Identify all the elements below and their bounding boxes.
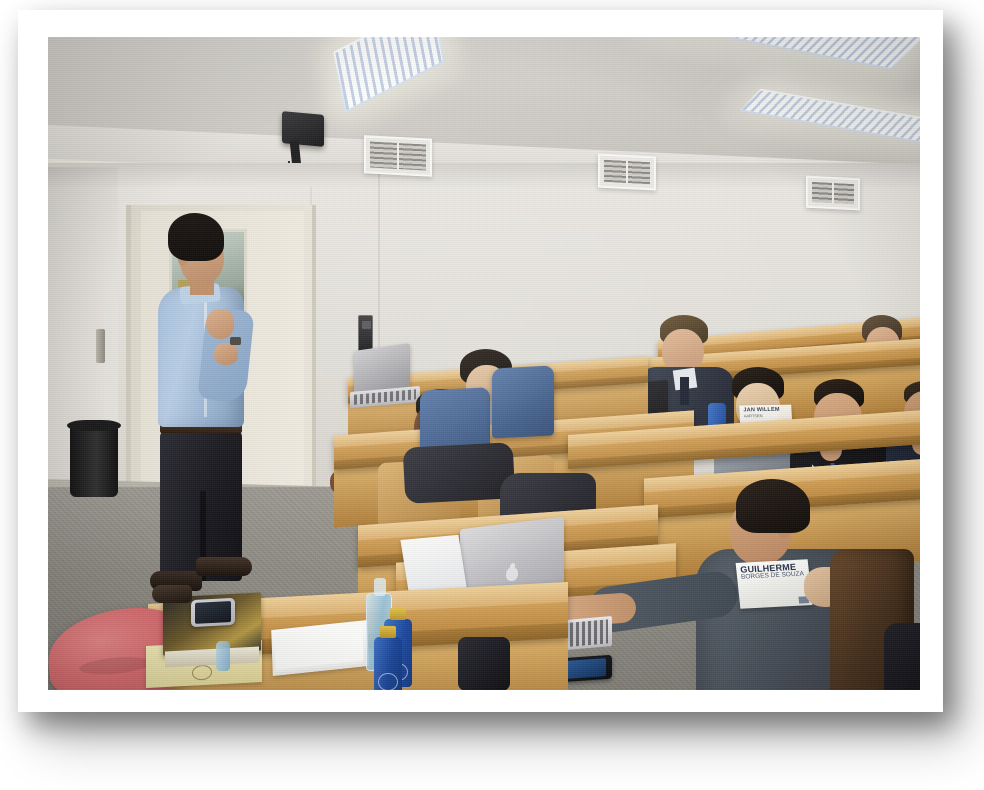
wall-shadow-band xyxy=(48,163,920,189)
air-vent-left-icon xyxy=(364,135,432,177)
instructor-hand-upper xyxy=(206,309,234,339)
name-card-guilherme: GUILHERME BORGES DE SOUZA xyxy=(736,559,813,609)
screenshot-root: JAN WILLEM AARTSEN xyxy=(0,0,984,790)
trash-bin-icon xyxy=(70,425,118,497)
ceiling-projector-icon xyxy=(282,111,324,147)
name-card-last-name: AARTSEN xyxy=(744,413,788,418)
black-coat-on-bench xyxy=(403,442,516,504)
shoe-on-floor xyxy=(152,585,192,603)
name-card-last-name: BORGES DE SOUZA xyxy=(741,572,806,582)
air-vent-right-icon xyxy=(806,176,860,211)
air-vent-center-icon xyxy=(598,153,656,190)
apple-logo-icon xyxy=(506,566,518,581)
instructor-shoe-right xyxy=(196,557,252,576)
instructor-hand-lower xyxy=(214,343,238,365)
instructor xyxy=(144,213,262,601)
chair-blue-right[interactable] xyxy=(492,365,554,438)
door-handle-icon[interactable] xyxy=(96,329,105,363)
small-water-bottle xyxy=(216,641,230,671)
student-front-typing-hair xyxy=(736,479,810,533)
smartphone-on-book[interactable] xyxy=(191,598,235,627)
student-suit-tie xyxy=(680,377,689,405)
dark-bag-under-desk xyxy=(458,637,510,690)
blue-bottle-two xyxy=(374,637,402,690)
black-backpack xyxy=(884,623,920,690)
photo-frame: JAN WILLEM AARTSEN xyxy=(18,10,943,712)
instructor-wristwatch-icon xyxy=(230,337,241,345)
photograph: JAN WILLEM AARTSEN xyxy=(48,37,920,690)
bottle-label xyxy=(378,673,398,690)
instructor-hair xyxy=(168,213,224,261)
